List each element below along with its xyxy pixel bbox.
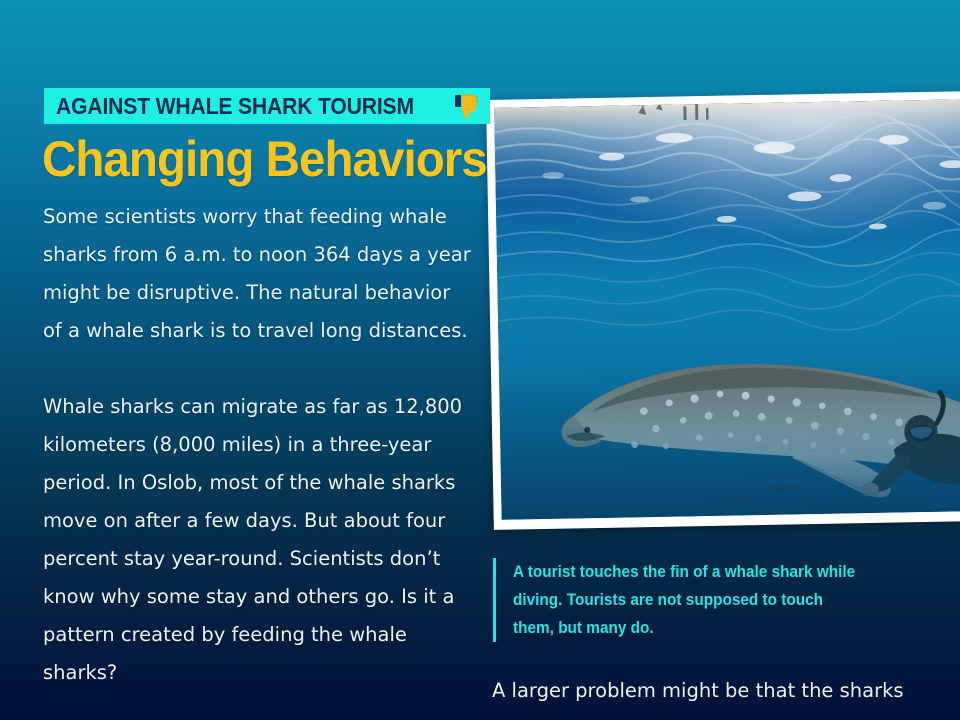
photo-caption: A tourist touches the fin of a whale sha… bbox=[493, 558, 883, 642]
photo-caption-text: A tourist touches the fin of a whale sha… bbox=[513, 558, 857, 642]
thumbs-down-icon bbox=[454, 93, 480, 119]
article-continuation: A larger problem might be that the shark… bbox=[492, 672, 952, 720]
kicker-badge: AGAINST WHALE SHARK TOURISM bbox=[44, 88, 490, 124]
article-body: Some scientists worry that feeding whale… bbox=[43, 198, 473, 692]
paragraph-1: Some scientists worry that feeding whale… bbox=[43, 198, 473, 350]
whale-shark-photo-frame bbox=[486, 90, 960, 529]
paragraph-2: Whale sharks can migrate as far as 12,80… bbox=[43, 388, 473, 692]
continuation-text: A larger problem might be that the shark… bbox=[492, 672, 952, 720]
whale-shark-photo bbox=[494, 99, 960, 520]
article-page: AGAINST WHALE SHARK TOURISM Changing Beh… bbox=[0, 0, 960, 720]
kicker-label: AGAINST WHALE SHARK TOURISM bbox=[56, 93, 414, 120]
page-title: Changing Behaviors bbox=[42, 132, 487, 186]
